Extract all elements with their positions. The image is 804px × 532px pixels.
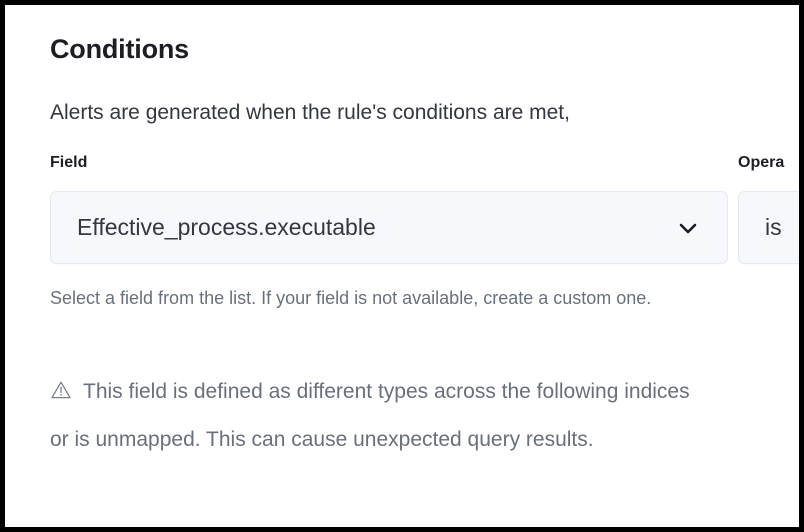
operator-column: Opera is <box>738 153 799 264</box>
warning-triangle-icon <box>50 371 72 393</box>
field-type-warning-text: This field is defined as different types… <box>50 380 690 451</box>
page-title: Conditions <box>50 34 189 65</box>
conditions-panel: Conditions Alerts are generated when the… <box>5 5 799 527</box>
field-label: Field <box>50 153 728 173</box>
panel-description: Alerts are generated when the rule's con… <box>50 101 570 125</box>
operator-select[interactable]: is <box>738 191 799 264</box>
field-type-warning: This field is defined as different types… <box>50 368 710 464</box>
chevron-down-icon[interactable] <box>675 215 727 241</box>
field-select[interactable]: Effective_process.executable <box>50 191 728 264</box>
field-column: Field Effective_process.executable <box>50 153 728 264</box>
field-help-text: Select a field from the list. If your fi… <box>50 283 690 314</box>
condition-row: Field Effective_process.executable Opera… <box>5 153 799 283</box>
screenshot-frame: Conditions Alerts are generated when the… <box>0 0 804 532</box>
field-select-value: Effective_process.executable <box>51 214 675 241</box>
operator-label: Opera <box>738 153 799 173</box>
operator-select-value: is <box>739 214 799 241</box>
